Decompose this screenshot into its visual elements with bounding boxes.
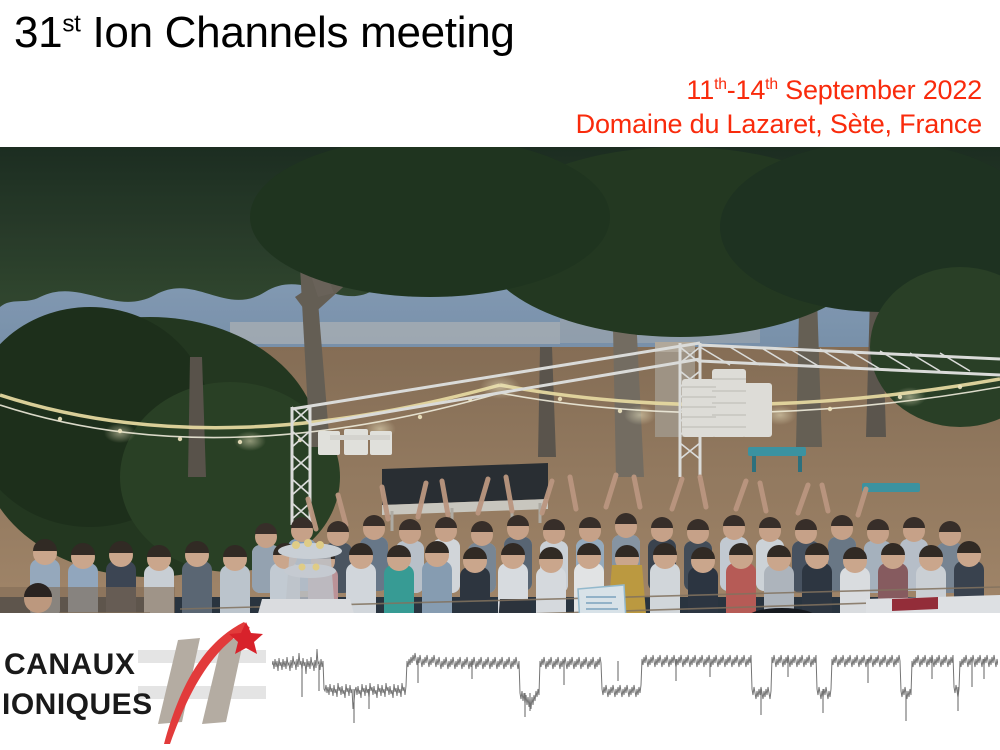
title-number: 31 [14,8,62,57]
logo-graphic: CANAUX IONIQUES [0,618,268,746]
group-photo [0,147,1000,613]
logo-band-lower [138,686,266,699]
title-text: Ion Channels meeting [81,8,515,57]
slide-header: 31st Ion Channels meeting 11th-14th Sept… [0,0,1000,147]
slide-footer: CANAUX IONIQUES [0,613,1000,750]
presentation-slide: 31st Ion Channels meeting 11th-14th Sept… [0,0,1000,750]
title-ordinal-suffix: st [62,10,80,37]
canaux-ioniques-logo: CANAUX IONIQUES [0,618,268,746]
date-end-day: 14 [736,75,766,105]
event-details: 11th-14th September 2022 Domaine du Laza… [576,74,982,142]
date-end-ordinal: th [765,76,778,93]
event-venue: Domaine du Lazaret, Sète, France [576,108,982,142]
single-channel-recording-trace [272,631,998,735]
date-start-day: 11 [686,75,714,105]
page-title: 31st Ion Channels meeting [14,8,515,59]
event-dates: 11th-14th September 2022 [576,74,982,108]
date-separator: - [727,75,736,105]
date-start-ordinal: th [714,76,727,93]
logo-line-2: IONIQUES [2,688,153,721]
trace-graphic [272,631,998,735]
date-month-year: September 2022 [778,75,982,105]
logo-line-1: CANAUX [4,648,135,681]
group-photo-image [0,147,1000,613]
